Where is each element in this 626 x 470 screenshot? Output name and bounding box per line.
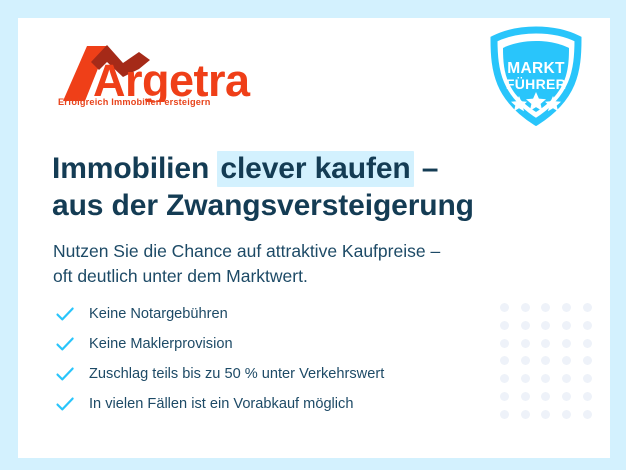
grid-dot: [562, 339, 571, 348]
argetra-roof-logo-icon: Argetra: [55, 44, 287, 102]
grid-dot: [562, 356, 571, 365]
grid-dot: [500, 374, 509, 383]
argetra-logo[interactable]: Argetra Erfolgreich Immobilien ersteiger…: [55, 44, 295, 122]
grid-dot: [521, 410, 530, 419]
svg-text:Argetra: Argetra: [93, 55, 251, 102]
grid-dot: [541, 374, 550, 383]
benefit-label: Zuschlag teils bis zu 50 % unter Verkehr…: [89, 366, 384, 382]
grid-dot: [521, 339, 530, 348]
grid-dot: [500, 410, 509, 419]
subtitle: Nutzen Sie die Chance auf attraktive Kau…: [53, 239, 553, 291]
benefit-label: In vielen Fällen ist ein Vorabkauf mögli…: [89, 396, 353, 412]
grid-dot: [562, 374, 571, 383]
page-title: Immobilien clever kaufen –aus der Zwangs…: [52, 150, 552, 224]
headline-highlight: clever kaufen: [217, 151, 413, 187]
grid-dot: [583, 356, 592, 365]
grid-dot: [521, 321, 530, 330]
grid-dot: [562, 410, 571, 419]
headline-line1-pre: Immobilien: [52, 152, 217, 185]
grid-dot: [541, 303, 550, 312]
grid-dot: [500, 356, 509, 365]
subtitle-line2: oft deutlich unter dem Marktwert.: [53, 266, 308, 286]
grid-dot: [500, 392, 509, 401]
grid-dot: [500, 339, 509, 348]
check-icon: [55, 394, 75, 414]
badge-line2: FÜHRER: [506, 76, 566, 92]
grid-dot: [583, 303, 592, 312]
grid-dot: [583, 321, 592, 330]
grid-dot: [500, 321, 509, 330]
grid-dot: [583, 392, 592, 401]
headline-line2: aus der Zwangsversteigerung: [52, 187, 552, 224]
list-item: Keine Maklerprovision: [53, 329, 493, 359]
list-item: Keine Notargebühren: [53, 299, 493, 329]
grid-dot: [541, 392, 550, 401]
list-item: Zuschlag teils bis zu 50 % unter Verkehr…: [53, 359, 493, 389]
grid-dot: [521, 374, 530, 383]
grid-dot: [562, 303, 571, 312]
grid-dot: [583, 410, 592, 419]
check-icon: [55, 364, 75, 384]
grid-dot: [562, 321, 571, 330]
grid-dot: [541, 321, 550, 330]
grid-dot: [562, 392, 571, 401]
grid-dot: [521, 303, 530, 312]
badge-line1: MARKT: [507, 60, 565, 77]
grid-dot: [500, 303, 509, 312]
grid-dot: [541, 339, 550, 348]
benefit-label: Keine Notargebühren: [89, 306, 228, 322]
check-icon: [55, 304, 75, 324]
promo-card: Argetra Erfolgreich Immobilien ersteiger…: [18, 18, 610, 458]
grid-dot: [583, 339, 592, 348]
dot-grid-decoration: [494, 299, 598, 423]
subtitle-line1: Nutzen Sie die Chance auf attraktive Kau…: [53, 241, 440, 261]
grid-dot: [541, 356, 550, 365]
headline-line1-post: –: [414, 152, 439, 185]
marktfuehrer-badge: MARKT FÜHRER: [486, 26, 586, 126]
list-item: In vielen Fällen ist ein Vorabkauf mögli…: [53, 389, 493, 419]
benefit-list: Keine NotargebührenKeine Maklerprovision…: [53, 299, 493, 419]
grid-dot: [521, 392, 530, 401]
benefit-label: Keine Maklerprovision: [89, 336, 233, 352]
grid-dot: [541, 410, 550, 419]
check-icon: [55, 334, 75, 354]
grid-dot: [521, 356, 530, 365]
promo-banner: Argetra Erfolgreich Immobilien ersteiger…: [0, 0, 626, 470]
logo-tagline: Erfolgreich Immobilien ersteigern: [58, 97, 211, 107]
grid-dot: [583, 374, 592, 383]
